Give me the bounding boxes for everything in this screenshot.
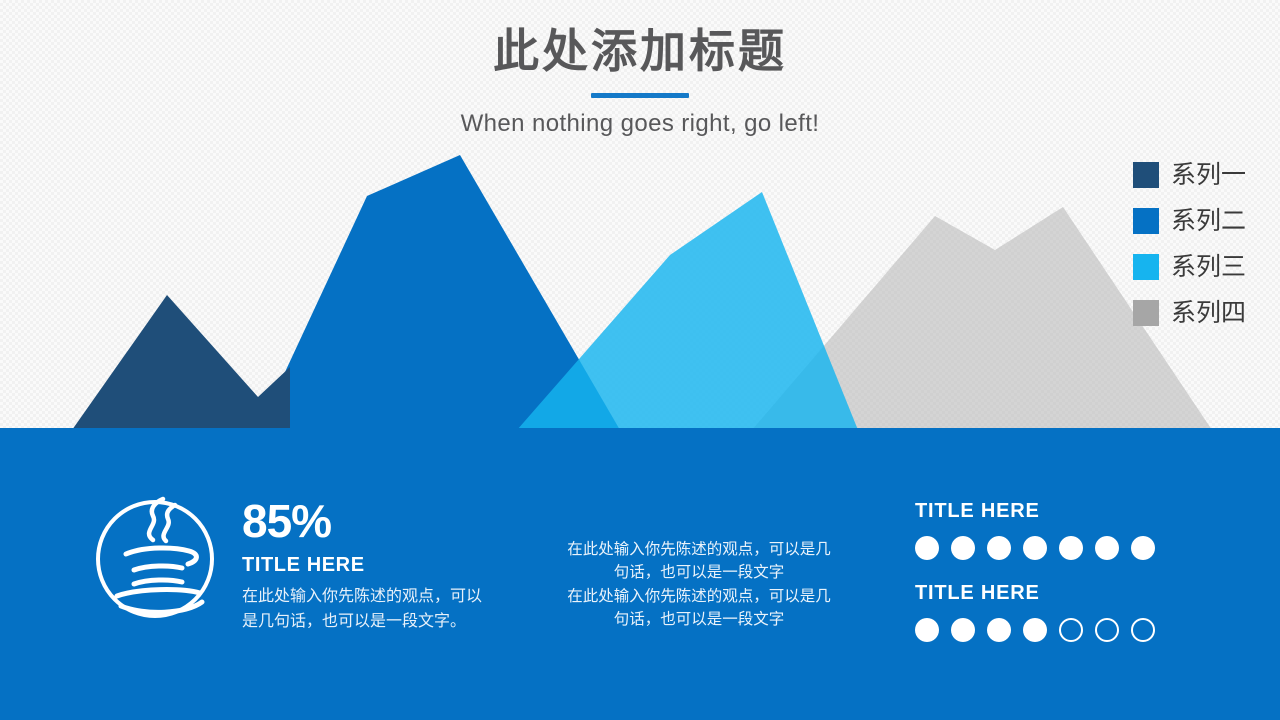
slide-header: 此处添加标题 When nothing goes right, go left! [0, 0, 1280, 160]
rating-dot-empty[interactable] [1131, 618, 1155, 642]
legend-item-series-1[interactable]: 系列一 [1133, 152, 1246, 198]
rating-dot-filled[interactable] [987, 536, 1011, 560]
legend-item-label: 系列三 [1171, 255, 1246, 280]
slide-canvas: 此处添加标题 When nothing goes right, go left!… [0, 0, 1280, 720]
stat-percentage-value: 85% [242, 498, 492, 544]
rating-group-2: TITLE HERE [915, 582, 1167, 642]
stat-block: 85% TITLE HERE 在此处输入你先陈述的观点，可以是几句话，也可以是一… [90, 490, 492, 635]
rating-dot-filled[interactable] [951, 536, 975, 560]
rating-dot-filled[interactable] [1095, 536, 1119, 560]
legend-swatch-icon [1133, 162, 1159, 188]
rating-title: TITLE HERE [915, 582, 1167, 605]
legend-item-series-4[interactable]: 系列四 [1133, 290, 1246, 336]
ratings-block: TITLE HERE TITLE HERE [915, 500, 1167, 664]
legend-swatch-icon [1133, 300, 1159, 326]
series-1-area [72, 295, 290, 430]
rating-dot-empty[interactable] [1059, 618, 1083, 642]
rating-dot-filled[interactable] [1131, 536, 1155, 560]
rating-dot-filled[interactable] [1059, 536, 1083, 560]
legend-item-label: 系列四 [1171, 301, 1246, 326]
stat-title: TITLE HERE [242, 554, 492, 577]
legend-item-series-2[interactable]: 系列二 [1133, 198, 1246, 244]
center-paragraph-2: 在此处输入你先陈述的观点，可以是几句话，也可以是一段文字 [565, 585, 833, 632]
rating-dot-filled[interactable] [1023, 618, 1047, 642]
center-paragraph-1: 在此处输入你先陈述的观点，可以是几句话，也可以是一段文字 [565, 538, 833, 585]
rating-dot-filled[interactable] [987, 618, 1011, 642]
legend-swatch-icon [1133, 208, 1159, 234]
chart-legend: 系列一 系列二 系列三 系列四 [1133, 152, 1246, 336]
legend-item-series-3[interactable]: 系列三 [1133, 244, 1246, 290]
rating-dot-row [915, 536, 1167, 560]
center-text-block: 在此处输入你先陈述的观点，可以是几句话，也可以是一段文字 在此处输入你先陈述的观… [565, 538, 833, 631]
rating-dot-filled[interactable] [951, 618, 975, 642]
rating-dot-row [915, 618, 1167, 642]
legend-item-label: 系列二 [1171, 209, 1246, 234]
legend-swatch-icon [1133, 254, 1159, 280]
legend-item-label: 系列一 [1171, 163, 1246, 188]
rating-dot-filled[interactable] [915, 618, 939, 642]
title-underline-rule [591, 93, 689, 98]
java-coffee-cup-icon [90, 492, 220, 622]
stat-description: 在此处输入你先陈述的观点，可以是几句话，也可以是一段文字。 [242, 585, 492, 635]
rating-dot-filled[interactable] [915, 536, 939, 560]
bottom-content-panel: 85% TITLE HERE 在此处输入你先陈述的观点，可以是几句话，也可以是一… [0, 428, 1280, 720]
series-3-area [517, 192, 858, 430]
page-subtitle: When nothing goes right, go left! [0, 110, 1280, 138]
rating-dot-empty[interactable] [1095, 618, 1119, 642]
rating-group-1: TITLE HERE [915, 500, 1167, 560]
rating-title: TITLE HERE [915, 500, 1167, 523]
stat-text-group: 85% TITLE HERE 在此处输入你先陈述的观点，可以是几句话，也可以是一… [242, 490, 492, 635]
page-title: 此处添加标题 [0, 24, 1280, 79]
rating-dot-filled[interactable] [1023, 536, 1047, 560]
